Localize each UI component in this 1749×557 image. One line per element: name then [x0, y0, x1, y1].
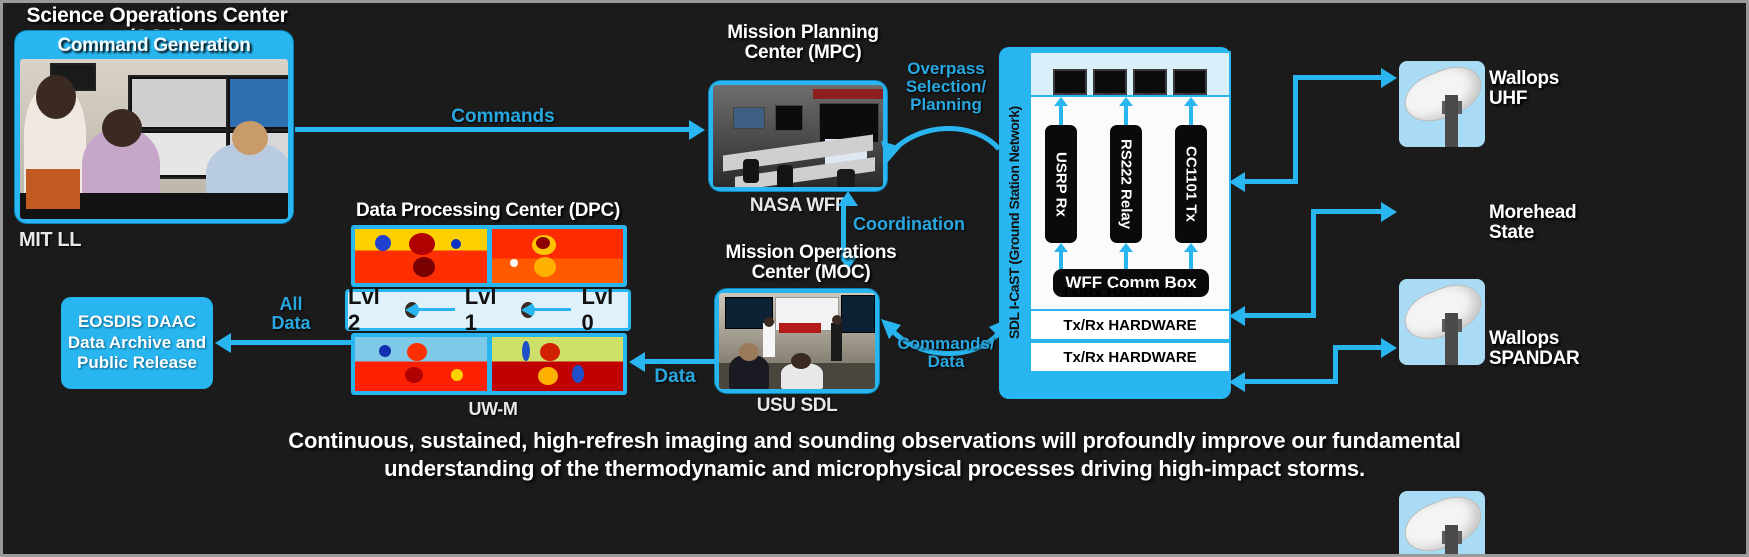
eosdis-line-2: Data Archive and: [68, 333, 206, 353]
rs222-up-arrow-icon: [1119, 97, 1133, 106]
flow-data-label: Data: [639, 367, 711, 387]
flow-all-data-line-2: Data: [241, 314, 341, 333]
eosdis-daac-box[interactable]: EOSDIS DAAC Data Archive and Public Rele…: [61, 297, 213, 389]
antenna-box-wallops-spandar: [1399, 491, 1485, 557]
monitor-icon: [1053, 69, 1087, 95]
flow-all-data-label: All Data: [241, 295, 341, 333]
spandar-line-down: [1243, 379, 1338, 384]
txrx-row-1: Tx/Rx HARDWARE: [1029, 279, 1227, 305]
moc-title-line-1: Mission Operations: [711, 243, 911, 263]
ground-station-side-label: SDL I-CaST (Ground Station Network): [1001, 49, 1027, 397]
spandar-line-v: [1333, 345, 1338, 383]
dpc-top-strips: [351, 225, 627, 287]
soc-photo: [20, 59, 288, 219]
swath-strip: [492, 229, 624, 283]
all-data-arrow-line: [231, 340, 351, 345]
uhf-tx-line-down: [1243, 179, 1298, 184]
chip-rs222-relay: RS222 Relay: [1110, 125, 1142, 243]
overpass-curve-arrow: [879, 123, 1009, 183]
all-data-arrow-head: [215, 333, 231, 353]
antenna-label-line-1: Wallops: [1489, 69, 1639, 89]
uhf-rx-arrow-head: [1229, 172, 1245, 192]
mpc-photo: [713, 85, 883, 187]
dpc-title: Data Processing Center (DPC): [343, 201, 633, 221]
antenna-label-morehead-state: Morehead State: [1489, 203, 1639, 243]
monitor-icon: [1133, 69, 1167, 95]
rs222-down-stem: [1124, 249, 1128, 271]
level-arrow-0-to-1-icon: [521, 302, 571, 318]
chip-usrp-rx: USRP Rx: [1045, 125, 1077, 243]
mpc-photo-box: [709, 81, 887, 191]
dish-mast-icon: [1445, 313, 1458, 365]
soc-org-label: MIT LL: [19, 229, 81, 252]
dish-mast-icon: [1445, 525, 1458, 557]
flow-overpass-line-1: Overpass: [887, 60, 1005, 78]
coordination-arrow-up: [838, 191, 858, 206]
flow-coordination-label: Coordination: [853, 215, 1013, 234]
data-arrow-line: [645, 359, 717, 364]
rs222-up-stem: [1124, 103, 1128, 125]
footer-line-1: Continuous, sustained, high-refresh imag…: [3, 427, 1746, 455]
uhf-tx-line-h: [1293, 75, 1383, 80]
swath-strip: [355, 229, 487, 283]
antenna-label-line-2: State: [1489, 223, 1639, 243]
antenna-label-line-2: UHF: [1489, 89, 1639, 109]
spandar-rx-arrow-head: [1229, 372, 1245, 392]
eosdis-line-1: EOSDIS DAAC: [78, 312, 196, 332]
monitor-icon: [1173, 69, 1207, 95]
antenna-label-line-1: Wallops: [1489, 329, 1669, 349]
txrx-row-2: Tx/Rx HARDWARE: [1029, 309, 1231, 341]
morehead-arrow-head: [1381, 202, 1397, 222]
rs222-down-arrow-icon: [1119, 243, 1133, 252]
level-0-label: Lvl 0: [581, 284, 628, 336]
flow-all-data-line-1: All: [241, 295, 341, 314]
antenna-label-wallops-spandar: Wallops SPANDAR: [1489, 329, 1669, 369]
dpc-org-label: UW-M: [355, 399, 631, 420]
txrx-row-3: Tx/Rx HARDWARE: [1029, 341, 1231, 373]
flow-commands-data-line-2: Data: [887, 353, 1005, 371]
monitor-icon: [1093, 69, 1127, 95]
usrp-up-arrow-icon: [1054, 97, 1068, 106]
morehead-line-down: [1243, 313, 1316, 318]
uhf-tx-line-v: [1293, 75, 1298, 183]
flow-overpass-label: Overpass Selection/ Planning: [887, 60, 1005, 114]
ground-station-panel: SDL I-CaST (Ground Station Network) USRP…: [999, 47, 1231, 399]
chip-cc1101-tx: CC1101 Tx: [1175, 125, 1207, 243]
cc1101-down-arrow-icon: [1184, 243, 1198, 252]
antenna-label-wallops-uhf: Wallops UHF: [1489, 69, 1639, 109]
usrp-up-stem: [1059, 103, 1063, 125]
spandar-arrow-head: [1381, 338, 1397, 358]
eosdis-line-3: Public Release: [77, 353, 197, 373]
dpc-level-bar: Lvl 2 Lvl 1 Lvl 0: [345, 289, 631, 331]
cc1101-up-stem: [1189, 103, 1193, 125]
soc-photo-box: Command Generation: [15, 31, 293, 223]
dish-icon: [1399, 491, 1485, 557]
moc-org-label: USU SDL: [715, 395, 879, 417]
flow-commands-data-label: Commands/ Data: [887, 335, 1005, 371]
level-1-label: Lvl 1: [465, 284, 512, 336]
usrp-down-stem: [1059, 249, 1063, 271]
antenna-label-line-1: Morehead: [1489, 203, 1639, 223]
morehead-rx-arrow-head: [1229, 306, 1245, 326]
antenna-box-wallops-uhf: [1399, 61, 1485, 147]
dpc-bottom-strips: [351, 333, 627, 395]
flow-overpass-line-3: Planning: [887, 96, 1005, 114]
moc-photo: [719, 293, 875, 389]
soc-banner-label: Command Generation: [20, 36, 288, 59]
operator-monitors-row: [1029, 51, 1231, 101]
commands-arrow-line: [295, 127, 691, 132]
footer-line-2: understanding of the thermodynamic and m…: [3, 455, 1746, 483]
antenna-box-morehead-state: [1399, 279, 1485, 365]
swath-strip: [355, 337, 487, 391]
moc-title-line-2: Center (MOC): [711, 263, 911, 283]
spandar-line-h: [1333, 345, 1383, 350]
diagram-canvas: Science Operations Center (SOC) Command …: [0, 0, 1749, 557]
cc1101-up-arrow-icon: [1184, 97, 1198, 106]
flow-commands-label: Commands: [423, 107, 583, 127]
dish-icon: [1399, 61, 1485, 130]
moc-photo-box: [715, 289, 879, 393]
flow-commands-data-line-1: Commands/: [887, 335, 1005, 353]
dish-mast-icon: [1445, 95, 1458, 147]
flow-overpass-line-2: Selection/: [887, 78, 1005, 96]
dish-icon: [1399, 279, 1485, 348]
cc1101-down-stem: [1189, 249, 1193, 271]
level-arrow-1-to-2-icon: [405, 302, 455, 318]
morehead-line-h: [1311, 209, 1383, 214]
mpc-title-line-1: Mission Planning: [703, 23, 903, 43]
level-2-label: Lvl 2: [348, 284, 395, 336]
commands-arrow-head: [689, 120, 705, 140]
usrp-down-arrow-icon: [1054, 243, 1068, 252]
uhf-tx-arrow-head: [1381, 68, 1397, 88]
mpc-title-line-2: Center (MPC): [703, 43, 903, 63]
morehead-line-v: [1311, 209, 1316, 317]
antenna-label-line-2: SPANDAR: [1489, 349, 1669, 369]
swath-strip: [492, 337, 624, 391]
